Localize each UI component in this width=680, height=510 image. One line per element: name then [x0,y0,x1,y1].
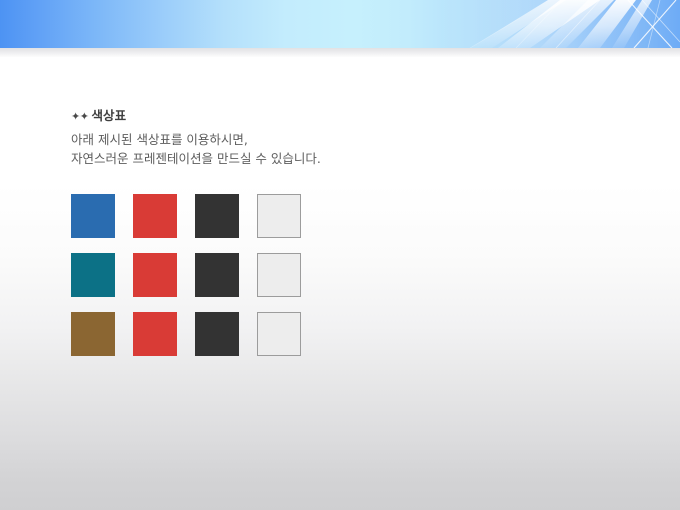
banner-bottom-shadow [0,48,680,57]
slide-canvas: ✦✦색상표 아래 제시된 색상표를 이용하시면, 자연스러운 프레젠테이션을 만… [0,0,680,510]
swatch-light-1[interactable] [257,194,301,238]
page-title: ✦✦색상표 [71,108,491,125]
swatch-red-3[interactable] [133,312,177,356]
color-palette-grid [71,194,301,356]
body-line-2: 자연스러운 프레젠테이션을 만드실 수 있습니다. [71,149,491,168]
banner-light-rays-decoration [0,0,680,48]
palette-row-3 [71,312,301,356]
body-line-1: 아래 제시된 색상표를 이용하시면, [71,130,491,149]
swatch-charcoal-1[interactable] [195,194,239,238]
header-banner [0,0,680,48]
swatch-teal[interactable] [71,253,115,297]
palette-row-2 [71,253,301,297]
palette-row-1 [71,194,301,238]
swatch-red-1[interactable] [133,194,177,238]
swatch-brown[interactable] [71,312,115,356]
text-block: ✦✦색상표 아래 제시된 색상표를 이용하시면, 자연스러운 프레젠테이션을 만… [71,108,491,168]
swatch-light-3[interactable] [257,312,301,356]
swatch-light-2[interactable] [257,253,301,297]
swatch-charcoal-3[interactable] [195,312,239,356]
page-title-label: 색상표 [91,108,126,123]
swatch-blue[interactable] [71,194,115,238]
swatch-red-2[interactable] [133,253,177,297]
swatch-charcoal-2[interactable] [195,253,239,297]
title-bullet-icon: ✦✦ [71,110,88,123]
